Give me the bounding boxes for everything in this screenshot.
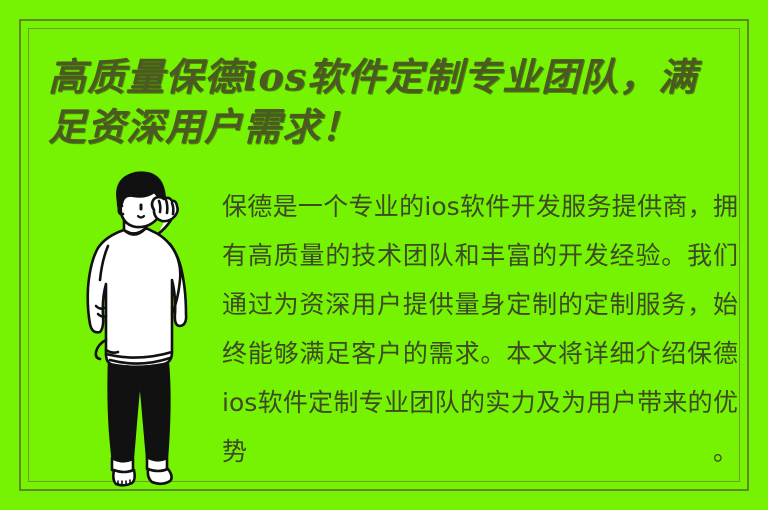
page-title: 高质量保德ios软件定制专业团队，满足资深用户需求！ xyxy=(48,52,728,152)
standing-person-illustration xyxy=(62,168,217,488)
poster-canvas: 高质量保德ios软件定制专业团队，满足资深用户需求！ xyxy=(0,0,768,510)
body-paragraph: 保德是一个专业的ios软件开发服务提供商，拥有高质量的技术团队和丰富的开发经验。… xyxy=(222,182,738,476)
